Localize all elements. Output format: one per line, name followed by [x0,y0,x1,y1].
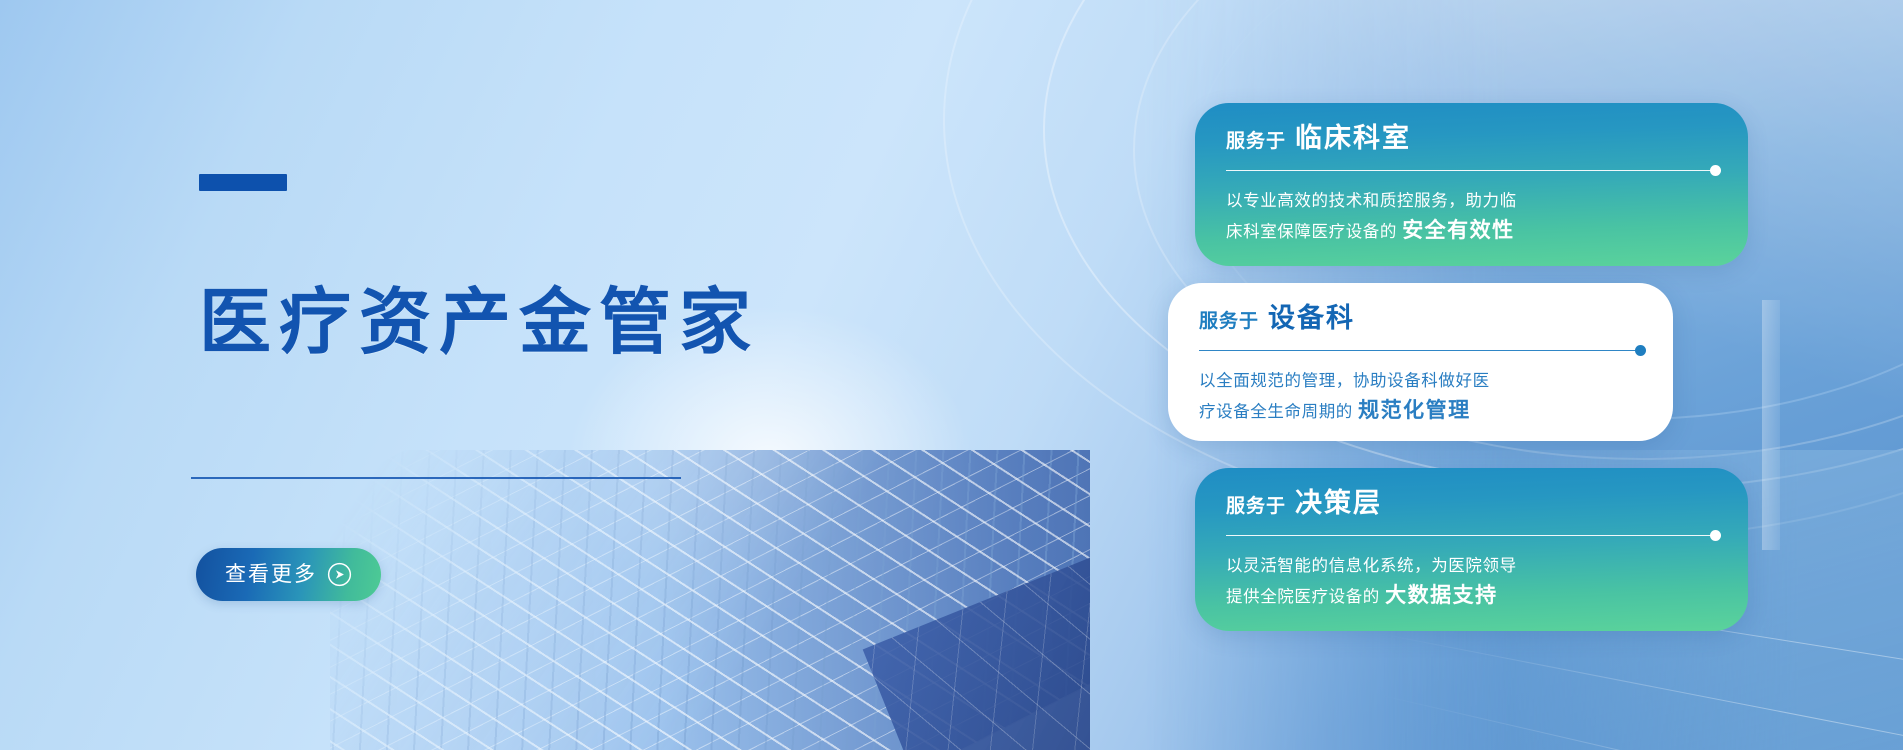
card-description-highlight: 规范化管理 [1358,399,1471,422]
card-rule-dot-icon [1635,345,1646,356]
card-rule [1226,530,1718,541]
card-description-line1: 以灵活智能的信息化系统，为医院领导 [1226,557,1517,575]
card-description-line2: 疗设备全生命周期的 [1199,403,1353,421]
card-heading-target: 决策层 [1295,490,1382,517]
card-heading: 服务于 设备科 [1199,305,1643,332]
card-body: 服务于 决策层 以灵活智能的信息化系统，为医院领导 提供全院医疗设备的 大数据支… [1195,468,1748,631]
card-rule [1199,345,1643,356]
card-rule-line [1226,170,1718,171]
card-heading-target: 设备科 [1268,305,1355,332]
card-description-line2: 床科室保障医疗设备的 [1226,223,1397,241]
card-body: 服务于 设备科 以全面规范的管理，协助设备科做好医 疗设备全生命周期的 规范化管… [1168,283,1673,441]
service-card-clinical[interactable]: 服务于 临床科室 以专业高效的技术和质控服务，助力临 床科室保障医疗设备的 安全… [1195,103,1748,266]
service-card-equipment[interactable]: 服务于 设备科 以全面规范的管理，协助设备科做好医 疗设备全生命周期的 规范化管… [1168,283,1673,441]
card-description: 以全面规范的管理，协助设备科做好医 疗设备全生命周期的 规范化管理 [1199,367,1643,427]
card-heading: 服务于 决策层 [1226,490,1718,517]
card-heading-prefix: 服务于 [1226,497,1286,516]
card-heading: 服务于 临床科室 [1226,125,1718,152]
card-rule [1226,165,1718,176]
card-heading-prefix: 服务于 [1226,132,1286,151]
card-body: 服务于 临床科室 以专业高效的技术和质控服务，助力临 床科室保障医疗设备的 安全… [1195,103,1748,266]
service-card-decision[interactable]: 服务于 决策层 以灵活智能的信息化系统，为医院领导 提供全院医疗设备的 大数据支… [1195,468,1748,631]
card-rule-dot-icon [1710,165,1721,176]
card-description-line1: 以专业高效的技术和质控服务，助力临 [1226,192,1517,210]
card-rule-line [1199,350,1643,351]
card-rule-line [1226,535,1718,536]
service-card-list: 服务于 临床科室 以专业高效的技术和质控服务，助力临 床科室保障医疗设备的 安全… [0,0,1903,750]
card-rule-dot-icon [1710,530,1721,541]
card-heading-target: 临床科室 [1295,125,1411,152]
card-heading-prefix: 服务于 [1199,312,1259,331]
card-description-line2: 提供全院医疗设备的 [1226,588,1380,606]
card-description-highlight: 安全有效性 [1402,219,1515,242]
card-description: 以灵活智能的信息化系统，为医院领导 提供全院医疗设备的 大数据支持 [1226,552,1718,612]
card-description-line1: 以全面规范的管理，协助设备科做好医 [1199,372,1490,390]
hero-banner: 医疗资产金管家 查看更多 服务于 临床科室 [0,0,1903,750]
card-description-highlight: 大数据支持 [1385,584,1498,607]
card-description: 以专业高效的技术和质控服务，助力临 床科室保障医疗设备的 安全有效性 [1226,187,1718,247]
